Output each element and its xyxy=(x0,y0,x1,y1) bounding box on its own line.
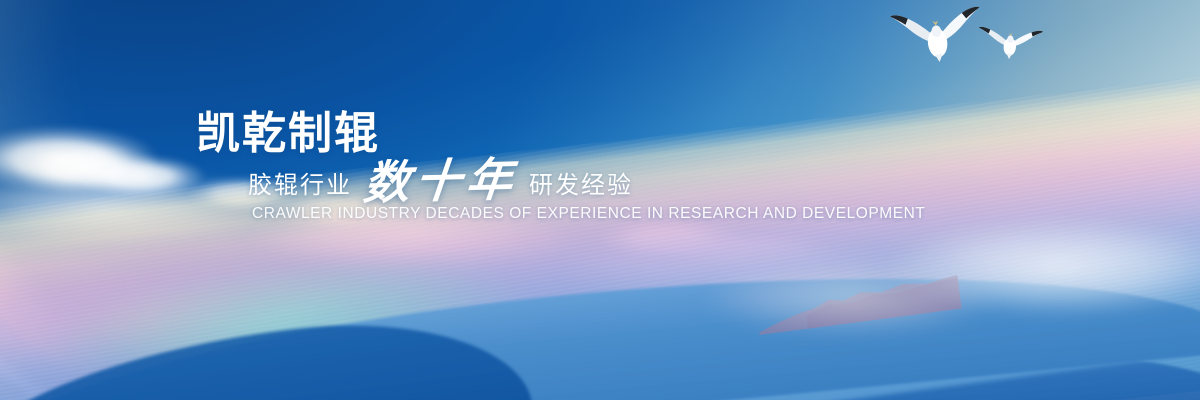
cloud-low-mist-center xyxy=(700,250,1000,336)
banner-copy: 凯乾制辊 胶辊行业 数十年 研发经验 CRAWLER INDUSTRY DECA… xyxy=(196,112,856,223)
subtitle-industry: 胶辊行业 xyxy=(248,173,352,199)
seagull-right xyxy=(974,20,1047,69)
english-tagline: CRAWLER INDUSTRY DECADES OF EXPERIENCE I… xyxy=(196,205,856,223)
hero-banner: 凯乾制辊 胶辊行业 数十年 研发经验 CRAWLER INDUSTRY DECA… xyxy=(0,0,1200,400)
brush-calligraphy-decades: 数十年 xyxy=(362,158,520,204)
subtitle-experience: 研发经验 xyxy=(529,173,633,199)
page-title: 凯乾制辊 xyxy=(196,112,856,156)
subtitle-row: 胶辊行业 数十年 研发经验 xyxy=(196,160,856,199)
